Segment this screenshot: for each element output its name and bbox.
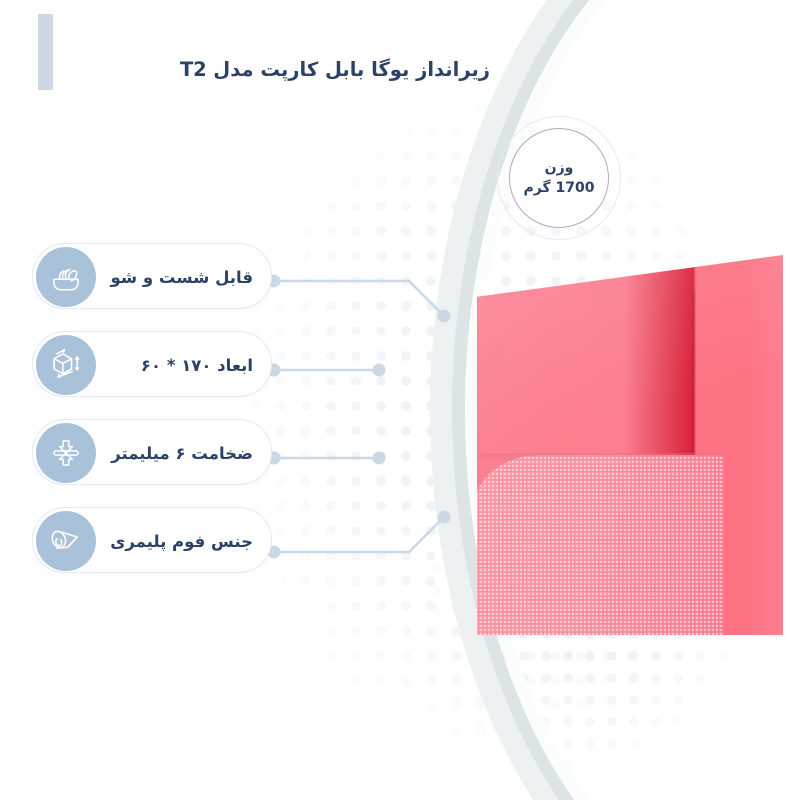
connector-line-washable	[274, 281, 444, 316]
weight-badge-label: وزن	[545, 160, 574, 176]
mat-folded-corner-texture	[477, 455, 724, 635]
connector-dot-end-dimensions	[374, 365, 384, 375]
feature-card-dimensions[interactable]: ابعاد ۱۷۰ * ۶۰	[32, 331, 272, 397]
weight-badge-value: 1700 گرم	[524, 180, 595, 196]
connector-line-material	[274, 517, 444, 552]
thickness-arrows-icon	[36, 423, 96, 483]
feature-card-list: قابل شست و شو ابعاد ۱۷۰ * ۶۰	[32, 243, 272, 595]
box-dimensions-icon	[36, 335, 96, 395]
page-title: زیرانداز یوگا بابل کارپت مدل T2	[160, 56, 490, 83]
hand-wash-icon	[36, 247, 96, 307]
feature-card-material[interactable]: جنس فوم پلیمری	[32, 507, 272, 573]
feature-card-thickness[interactable]: ضخامت ۶ میلیمتر	[32, 419, 272, 485]
feature-card-label-washable: قابل شست و شو	[111, 244, 253, 310]
connector-dot-end-thickness	[374, 453, 384, 463]
feature-card-label-dimensions: ابعاد ۱۷۰ * ۶۰	[141, 332, 253, 398]
connector-dot-end-material	[439, 512, 449, 522]
vertical-accent-bar	[38, 14, 53, 90]
weight-badge-disc: وزن 1700 گرم	[509, 128, 609, 228]
yoga-mat-photo	[477, 255, 783, 635]
rolled-mat-icon	[36, 511, 96, 571]
infographic-canvas: زیرانداز یوگا بابل کارپت مدل T2 وزن 1700…	[0, 0, 800, 800]
feature-card-washable[interactable]: قابل شست و شو	[32, 243, 272, 309]
weight-badge: وزن 1700 گرم	[497, 116, 621, 240]
feature-card-label-thickness: ضخامت ۶ میلیمتر	[111, 420, 253, 486]
feature-card-label-material: جنس فوم پلیمری	[110, 508, 253, 574]
connector-dot-end-washable	[439, 311, 449, 321]
